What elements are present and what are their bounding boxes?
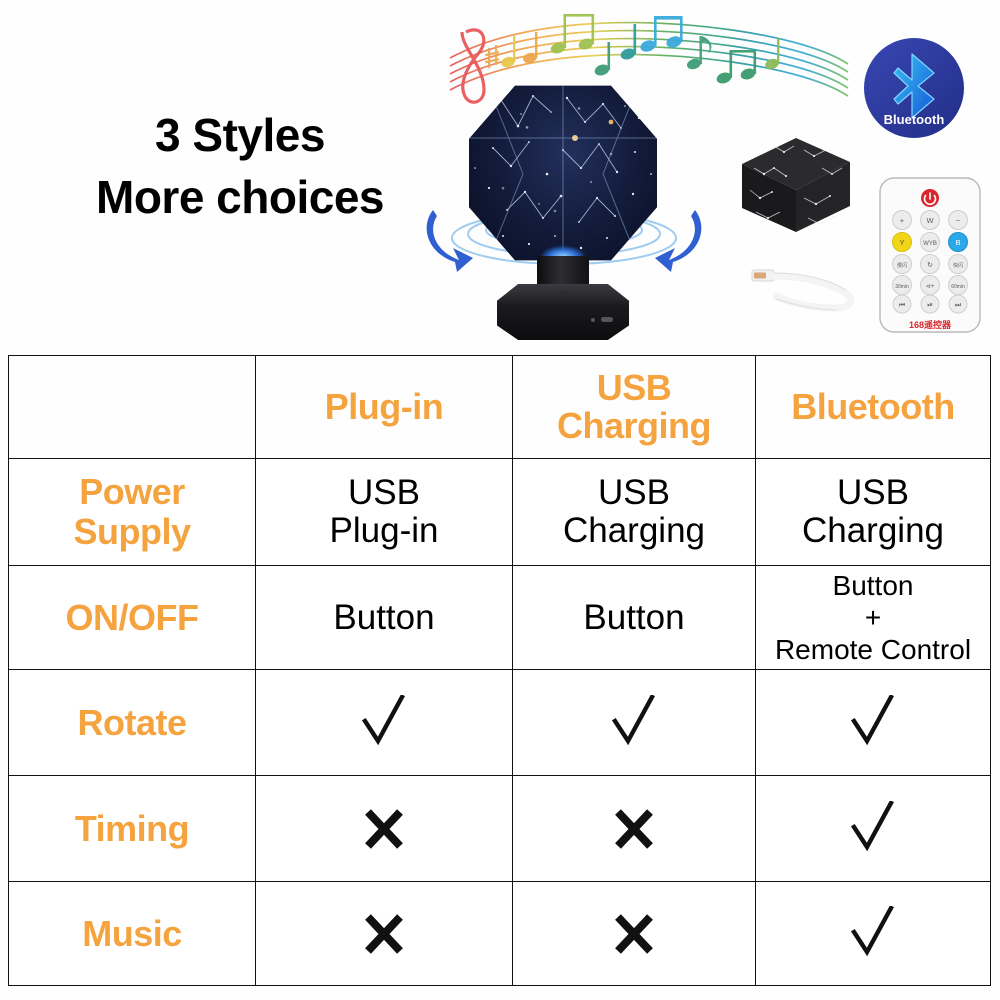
remote-model-label: 168遥控器 bbox=[909, 319, 952, 330]
cell-music-bluetooth bbox=[756, 882, 991, 986]
headline-line-1: 3 Styles bbox=[40, 104, 440, 166]
remote-control: + W − Y WYB B 慢闪 ↻ 快闪 30min ⊲+ 60min ⏮ ⏯… bbox=[876, 176, 984, 334]
cell-text-line: Remote Control bbox=[760, 634, 986, 666]
cell-on-off-usb-charging: Button bbox=[513, 566, 756, 670]
star-projector-lamp bbox=[455, 78, 670, 343]
usb-cable bbox=[748, 248, 870, 316]
base-port-icons bbox=[497, 284, 629, 340]
table-corner-cell bbox=[9, 356, 256, 459]
column-header-bluetooth: Bluetooth bbox=[756, 356, 991, 459]
cell-rotate-bluetooth bbox=[756, 670, 991, 776]
cell-music-usb-charging bbox=[513, 882, 756, 986]
table-row-power-supply: Power Supply USB Plug-in USB Charging bbox=[9, 459, 991, 566]
svg-text:W: W bbox=[926, 216, 934, 225]
row-label-timing: Timing bbox=[9, 776, 256, 882]
column-header-usb-charging-line-1: Charging bbox=[517, 407, 751, 445]
svg-text:WYB: WYB bbox=[923, 241, 937, 247]
table-header-row: Plug-in USB Charging Bluetooth bbox=[9, 356, 991, 459]
row-label-power-supply: Power Supply bbox=[9, 459, 256, 566]
cell-power-supply-usb-charging: USB Charging bbox=[513, 459, 756, 566]
cell-text-line: Charging bbox=[517, 512, 751, 550]
table-row-on-off: ON/OFF Button Button Button + Remote Con… bbox=[9, 566, 991, 670]
cell-text-line: Button bbox=[760, 570, 986, 602]
cell-text-line: + bbox=[760, 602, 986, 634]
cell-text-line: Button bbox=[517, 599, 751, 637]
row-label-music-line-0: Music bbox=[82, 913, 182, 954]
cell-on-off-plugin: Button bbox=[256, 566, 513, 670]
svg-text:⏭: ⏭ bbox=[955, 302, 962, 309]
cell-text-line: USB bbox=[760, 474, 986, 512]
svg-text:⏯: ⏯ bbox=[927, 302, 933, 309]
svg-text:60min: 60min bbox=[951, 284, 965, 290]
table-row-timing: Timing bbox=[9, 776, 991, 882]
lamp-base bbox=[497, 284, 629, 340]
cell-text-line: Plug-in bbox=[260, 512, 508, 550]
row-label-timing-line-0: Timing bbox=[75, 808, 189, 849]
cell-power-supply-bluetooth: USB Charging bbox=[756, 459, 991, 566]
cell-on-off-bluetooth: Button + Remote Control bbox=[756, 566, 991, 670]
row-label-rotate-line-0: Rotate bbox=[77, 702, 186, 743]
cell-rotate-plugin bbox=[256, 670, 513, 776]
column-header-bluetooth-line-0: Bluetooth bbox=[791, 386, 954, 427]
cell-text-line: USB bbox=[517, 474, 751, 512]
svg-text:30min: 30min bbox=[895, 284, 909, 290]
row-label-rotate: Rotate bbox=[9, 670, 256, 776]
gift-box bbox=[738, 128, 853, 236]
svg-text:慢闪: 慢闪 bbox=[897, 262, 907, 269]
row-label-power-supply-line-1: Supply bbox=[13, 512, 251, 552]
table-row-rotate: Rotate bbox=[9, 670, 991, 776]
headline-line-2: More choices bbox=[40, 166, 440, 228]
row-label-power-supply-line-0: Power bbox=[13, 472, 251, 512]
cell-music-plugin bbox=[256, 882, 513, 986]
row-label-on-off: ON/OFF bbox=[9, 566, 256, 670]
bluetooth-badge-label: Bluetooth bbox=[884, 112, 945, 127]
column-header-plugin-line-0: Plug-in bbox=[325, 386, 443, 427]
cell-timing-usb-charging bbox=[513, 776, 756, 882]
cell-timing-plugin bbox=[256, 776, 513, 882]
cell-rotate-usb-charging bbox=[513, 670, 756, 776]
column-header-usb-charging: USB Charging bbox=[513, 356, 756, 459]
svg-text:Y: Y bbox=[899, 238, 904, 247]
column-header-plugin: Plug-in bbox=[256, 356, 513, 459]
headline: 3 Styles More choices bbox=[40, 104, 440, 228]
row-label-music: Music bbox=[9, 882, 256, 986]
cell-timing-bluetooth bbox=[756, 776, 991, 882]
svg-text:↻: ↻ bbox=[927, 262, 933, 269]
svg-text:⏮: ⏮ bbox=[899, 302, 905, 309]
row-label-on-off-line-0: ON/OFF bbox=[66, 597, 199, 638]
bluetooth-badge: Bluetooth bbox=[862, 36, 966, 140]
table-row-music: Music bbox=[9, 882, 991, 986]
cell-text-line: Button bbox=[260, 599, 508, 637]
svg-text:快闪: 快闪 bbox=[953, 262, 963, 269]
comparison-table: Plug-in USB Charging Bluetooth Power Sup bbox=[8, 355, 991, 986]
svg-text:B: B bbox=[955, 238, 960, 247]
cell-power-supply-plugin: USB Plug-in bbox=[256, 459, 513, 566]
column-header-usb-charging-line-0: USB bbox=[517, 369, 751, 407]
svg-text:+: + bbox=[900, 216, 905, 225]
svg-text:⊲+: ⊲+ bbox=[926, 284, 935, 290]
infographic-root: Bluetooth + W − Y WYB B 慢闪 ↻ 快闪 30min ⊲+… bbox=[0, 0, 1000, 1000]
cell-text-line: Charging bbox=[760, 512, 986, 550]
svg-text:−: − bbox=[956, 216, 961, 225]
cell-text-line: USB bbox=[260, 474, 508, 512]
